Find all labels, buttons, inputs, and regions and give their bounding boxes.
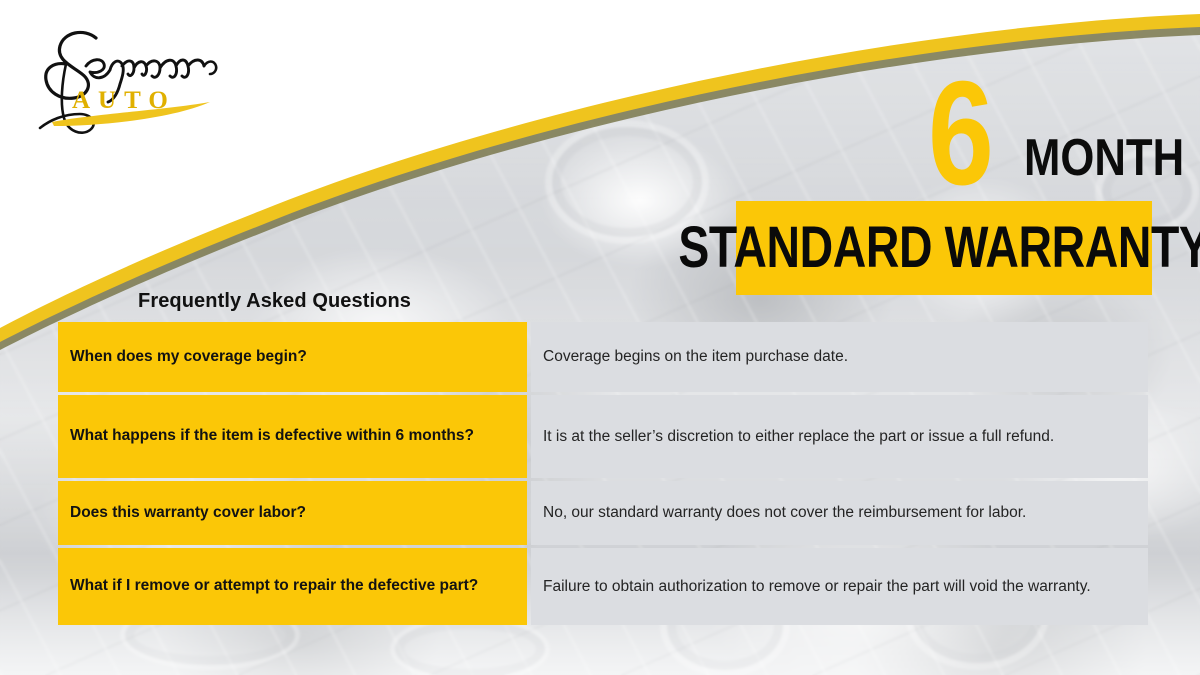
- warranty-slide: AUTO 6 MONTH STANDARD WARRANTY Frequentl…: [0, 0, 1200, 675]
- faq-answer-cell: Coverage begins on the item purchase dat…: [531, 322, 1148, 392]
- faq-section-title: Frequently Asked Questions: [138, 290, 411, 313]
- faq-question-cell: When does my coverage begin?: [58, 322, 527, 392]
- standard-warranty-banner-text: STANDARD WARRANTY: [678, 219, 1200, 277]
- faq-question-cell: What happens if the item is defective wi…: [58, 395, 527, 478]
- warranty-duration-headline: 6 MONTH: [920, 74, 1168, 196]
- faq-row: What if I remove or attempt to repair th…: [58, 548, 1148, 625]
- faq-answer-cell: No, our standard warranty does not cover…: [531, 481, 1148, 545]
- faq-answer-cell: Failure to obtain authorization to remov…: [531, 548, 1148, 625]
- faq-row: When does my coverage begin? Coverage be…: [58, 322, 1148, 392]
- faq-question-cell: Does this warranty cover labor?: [58, 481, 527, 545]
- faq-answer-cell: It is at the seller’s discretion to eith…: [531, 395, 1148, 478]
- duration-unit-label: MONTH: [1024, 132, 1184, 184]
- faq-row: What happens if the item is defective wi…: [58, 395, 1148, 478]
- faq-row: Does this warranty cover labor? No, our …: [58, 481, 1148, 545]
- standard-warranty-banner: STANDARD WARRANTY: [736, 201, 1152, 295]
- duration-number: 6: [928, 60, 992, 208]
- faq-table: When does my coverage begin? Coverage be…: [58, 322, 1148, 625]
- seymour-auto-logo: AUTO: [24, 22, 234, 140]
- logo-script-terminal: [204, 62, 216, 75]
- faq-question-cell: What if I remove or attempt to repair th…: [58, 548, 527, 625]
